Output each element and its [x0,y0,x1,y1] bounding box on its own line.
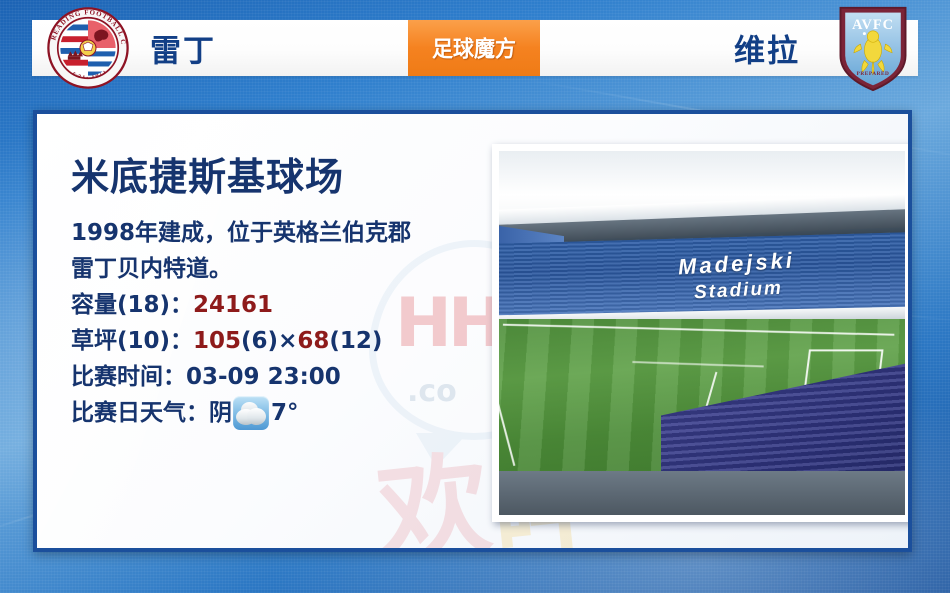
weather-label: 比赛日天气： [71,395,209,431]
stadium-description-line-2: 雷丁贝内特道。 [71,251,491,287]
match-time-value: 03-09 23:00 [186,364,341,390]
away-team-name: 维拉 [734,26,800,71]
weather-condition: 阴 [209,395,232,431]
aston-villa-crest: AVFC PREPARED [834,4,912,92]
capacity-value: 24161 [193,292,273,318]
match-header-bar: 雷丁 维拉 足球魔方 [32,20,918,76]
pitch-row: 草坪(10)：105(6)×68(12) [71,323,491,359]
site-logo-text: 足球魔方 [432,32,516,64]
capacity-label: 容量(18)： [71,292,193,318]
pitch-width-rank: (12) [329,328,382,354]
home-team-name: 雷丁 [150,26,216,71]
site-logo[interactable]: 足球魔方 [408,20,540,76]
match-time-label: 比赛时间： [71,364,186,390]
capacity-row: 容量(18)：24161 [71,287,491,323]
match-time-row: 比赛时间：03-09 23:00 [71,359,491,395]
stadium-photo-frame[interactable]: Madejski Stadium [492,144,912,522]
stadium-info-panel: HH .co 欢 呼 米底捷斯基球场 1998年建成，位于英格兰伯克郡 雷丁贝内… [33,110,912,552]
weather-temperature: 7° [271,395,299,431]
pitch-length: 105 [193,328,241,354]
weather-row: 比赛日天气：阴 7° [71,395,491,431]
pitch-length-rank: (6) [241,328,278,354]
pitch-dimension-separator: × [278,328,297,354]
cloudy-icon [233,396,269,430]
svg-text:AVFC: AVFC [852,17,894,33]
pitch-label: 草坪(10)： [71,328,193,354]
stadium-description-line-1: 1998年建成，位于英格兰伯克郡 [71,215,491,251]
svg-text:PREPARED: PREPARED [857,71,890,77]
pitch-width: 68 [297,328,329,354]
stadium-info-block: 米底捷斯基球场 1998年建成，位于英格兰伯克郡 雷丁贝内特道。 容量(18)：… [71,146,491,431]
stadium-title: 米底捷斯基球场 [71,146,491,201]
stadium-photo: Madejski Stadium [499,151,905,515]
watermark-char-red: 欢 [369,414,497,552]
reading-fc-crest: READING FOOTBALL CLUB EST. 1871 [46,6,130,90]
